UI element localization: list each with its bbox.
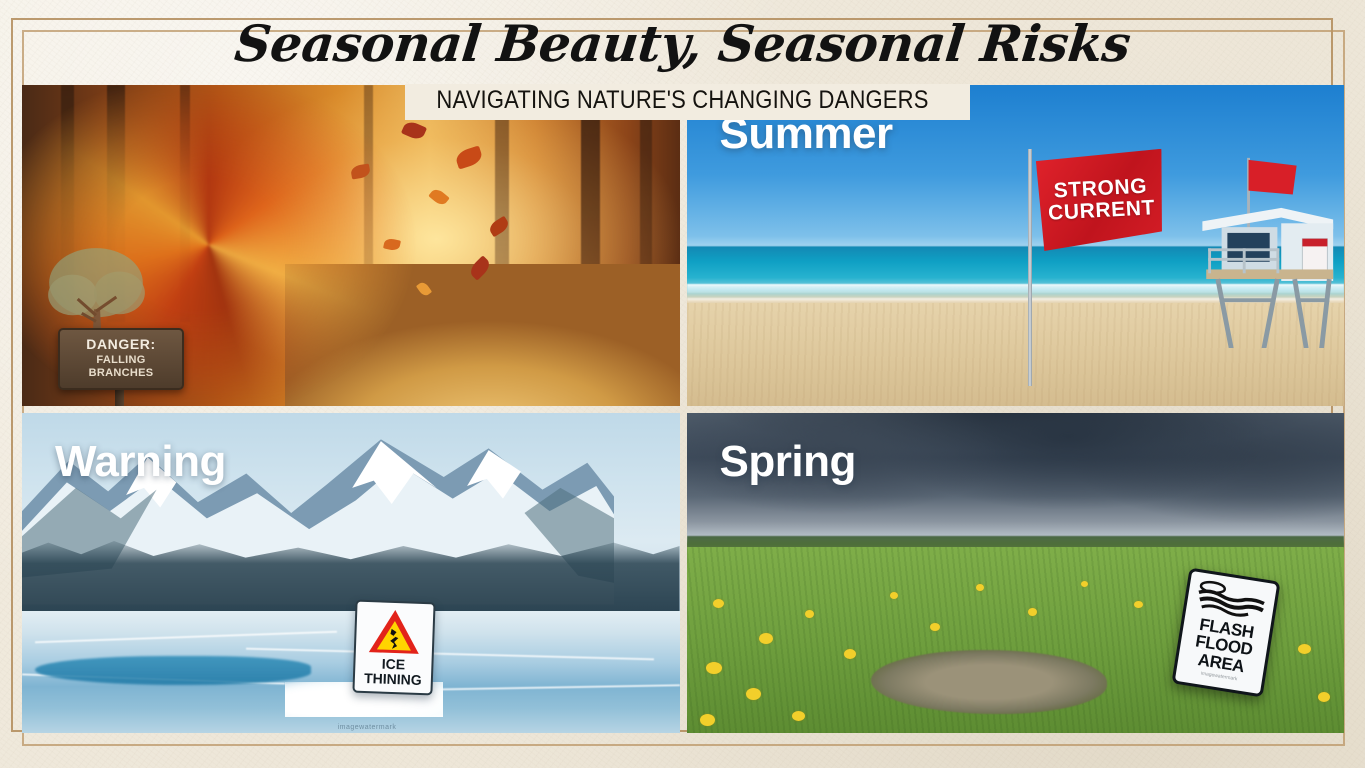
season-label-winter: Warning — [55, 437, 226, 487]
sign-line-2: FALLING BRANCHES — [64, 354, 178, 379]
quadrant-spring[interactable]: Spring FLASH FLOOD AREA imagewatermark — [687, 413, 1345, 734]
page-subtitle: NAVIGATING NATURE'S CHANGING DANGERS — [82, 86, 1283, 115]
cracking-ice-glyph — [387, 628, 403, 651]
flag-pole — [1028, 149, 1032, 386]
warning-triangle-icon — [369, 609, 420, 654]
season-label-spring: Spring — [720, 437, 856, 487]
image-watermark: imagewatermark — [338, 724, 397, 731]
sign-line-1: DANGER: — [64, 337, 178, 352]
page-title: Seasonal Beauty, Seasonal Risks — [0, 14, 1365, 73]
lifeguard-tower-icon — [1186, 156, 1338, 348]
quadrant-winter[interactable]: Warning ICE THINING imagewatermark — [22, 413, 680, 734]
season-grid: DANGER: FALLING BRANCHES Summer STRONG C… — [22, 85, 1344, 733]
quadrant-summer[interactable]: Summer STRONG CURRENT — [687, 85, 1345, 406]
autumn-warning-sign[interactable]: DANGER: FALLING BRANCHES — [58, 328, 184, 390]
flag-line-2: CURRENT — [1048, 198, 1156, 226]
quadrant-autumn[interactable]: DANGER: FALLING BRANCHES — [22, 85, 680, 406]
summer-warning-flag[interactable]: STRONG CURRENT — [1036, 149, 1167, 251]
winter-warning-sign[interactable]: ICE THINING — [352, 600, 435, 696]
spring-warning-sign[interactable]: FLASH FLOOD AREA imagewatermark — [1171, 568, 1280, 698]
sign-line-2: THINING — [358, 671, 428, 688]
